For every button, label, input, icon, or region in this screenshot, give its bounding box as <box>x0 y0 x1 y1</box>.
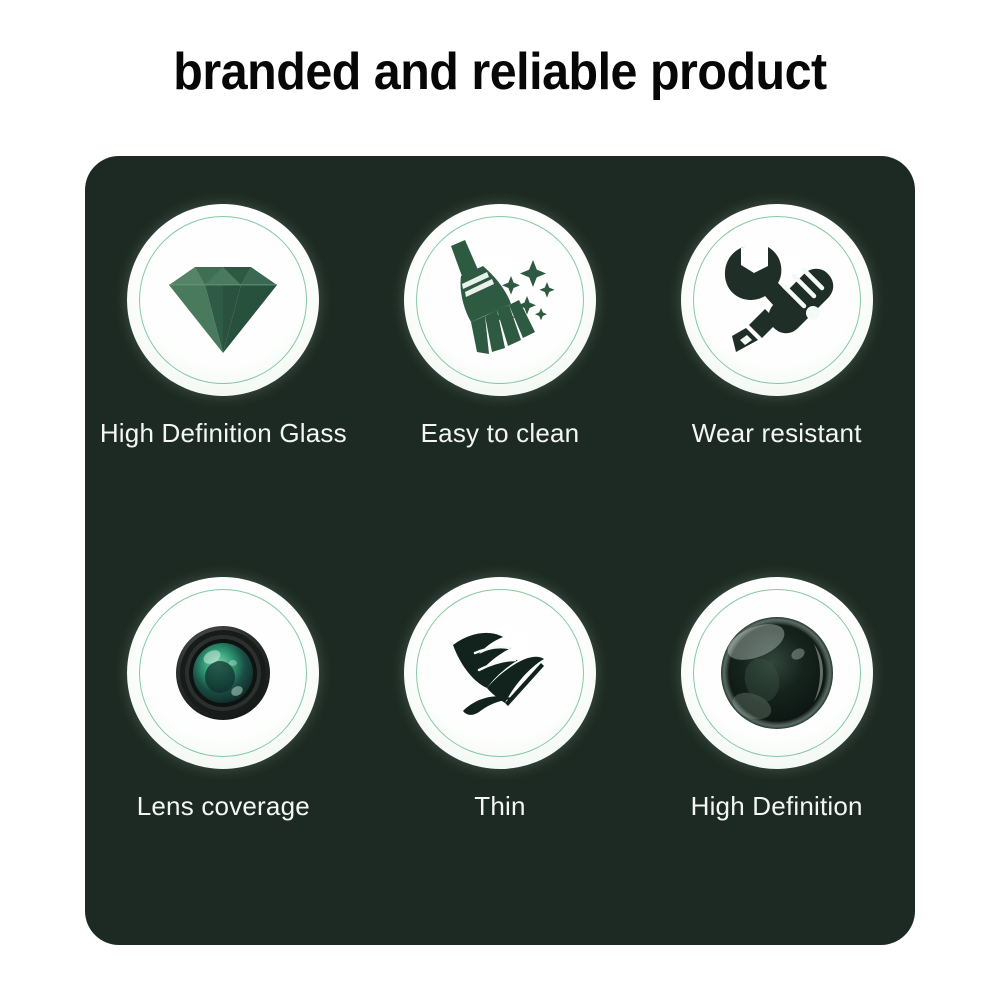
glass-dome-icon <box>718 614 836 732</box>
feature-item-wear-resistant: Wear resistant <box>638 204 915 555</box>
feature-icon-badge <box>681 204 873 396</box>
feature-label: Wear resistant <box>692 418 862 449</box>
feature-label: Easy to clean <box>421 418 580 449</box>
diamond-icon <box>159 241 287 359</box>
feature-item-thin: Thin <box>362 555 639 906</box>
feature-item-easy-to-clean: Easy to clean <box>362 204 639 555</box>
feature-label: High Definition <box>691 791 863 822</box>
camera-lens-icon <box>175 625 271 721</box>
feature-icon-badge <box>404 577 596 769</box>
feature-label: Lens coverage <box>137 791 310 822</box>
product-feature-infographic: branded and reliable product <box>0 0 1000 1000</box>
feature-label: Thin <box>474 791 525 822</box>
feature-item-high-definition-glass: High Definition Glass <box>85 204 362 555</box>
feature-item-lens-coverage: Lens coverage <box>85 555 362 906</box>
feature-icon-badge <box>127 577 319 769</box>
feature-item-high-definition: High Definition <box>638 555 915 906</box>
feature-icon-badge <box>127 204 319 396</box>
wrench-screwdriver-icon <box>716 240 838 360</box>
feature-grid: High Definition Glass <box>85 156 915 945</box>
feature-label: High Definition Glass <box>100 418 347 449</box>
feather-icon <box>445 623 555 723</box>
feature-icon-badge <box>404 204 596 396</box>
feature-icon-badge <box>681 577 873 769</box>
page-title: branded and reliable product <box>35 42 965 102</box>
feature-panel: High Definition Glass <box>85 156 915 945</box>
broom-sparkle-icon <box>435 238 565 362</box>
